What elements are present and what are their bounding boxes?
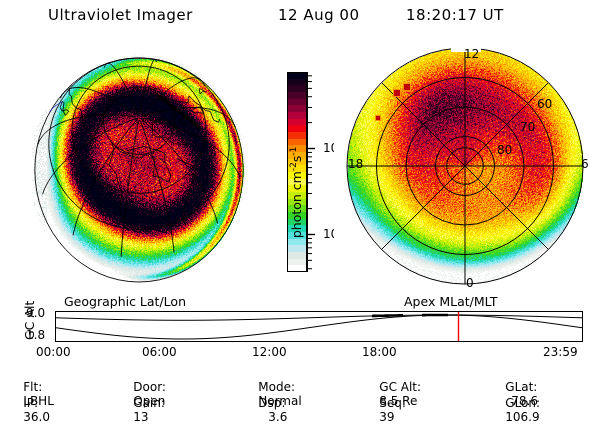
uvi-screenshot: Ultraviolet Imager 12 Aug 00 18:20:17 UT… [0,0,600,400]
status-gain: Gain: 13 [118,382,165,438]
status-gain-label: Gain: [133,396,165,410]
observation-date: 12 Aug 00 [278,6,360,24]
polar-marker-1 [393,89,401,97]
mlat-ring-label-70: 70 [520,120,535,134]
status-glon-label: GLon: [505,396,540,410]
orbit-ytick-bottom: 1.8 [26,328,45,342]
geographic-aurora-image [4,42,266,292]
mlt-label-6: 6 [581,157,589,171]
colorbar-exponent-1: -2 [289,162,299,171]
mlt-label-0: 0 [466,276,474,290]
status-glon: GLon: 106.9 [490,382,540,438]
colorbar-unit-2: s [289,156,304,163]
colorbar-axis-label: photon cm [289,171,304,238]
orbit-xtick-1800: 18:00 [362,345,397,359]
observation-time: 18:20:17 UT [406,6,504,24]
status-seq: Seq: 39 [364,382,406,438]
polar-marker-2 [403,83,411,91]
status-gain-value: 13 [133,410,148,424]
mlat-ring-label-60: 60 [537,97,552,111]
status-dsp: Dsp: 3.6 [243,382,287,438]
status-ip-label: IP: [23,396,38,410]
colorbar-exponent-2: -1 [289,147,299,156]
status-ip: IP: 36.0 [8,382,50,438]
orbit-xtick-2359: 23:59 [543,345,578,359]
mlt-label-18: 18 [348,157,363,171]
mlat-ring-label-80: 80 [497,143,512,157]
polar-marker-3 [375,115,381,121]
orbit-ytick-top: 9.0 [26,306,45,320]
orbit-altitude-trace [56,312,582,341]
orbit-altitude-panel[interactable] [55,311,583,342]
left-panel-caption: Geographic Lat/Lon [64,294,186,309]
apex-polar-aurora-image [334,42,596,292]
status-glon-value: 106.9 [505,410,539,424]
status-seq-label: Seq: [379,396,406,410]
status-dsp-value: 3.6 [258,410,287,424]
status-seq-value: 39 [379,410,394,424]
orbit-xtick-0600: 06:00 [142,345,177,359]
orbit-xtick-1200: 12:00 [252,345,287,359]
instrument-title: Ultraviolet Imager [48,6,193,24]
status-dsp-label: Dsp: [258,396,285,410]
status-ip-value: 36.0 [23,410,50,424]
right-panel-caption: Apex MLat/MLT [404,294,498,309]
mlt-label-12: 12 [464,47,479,61]
orbit-xtick-0000: 00:00 [36,345,71,359]
